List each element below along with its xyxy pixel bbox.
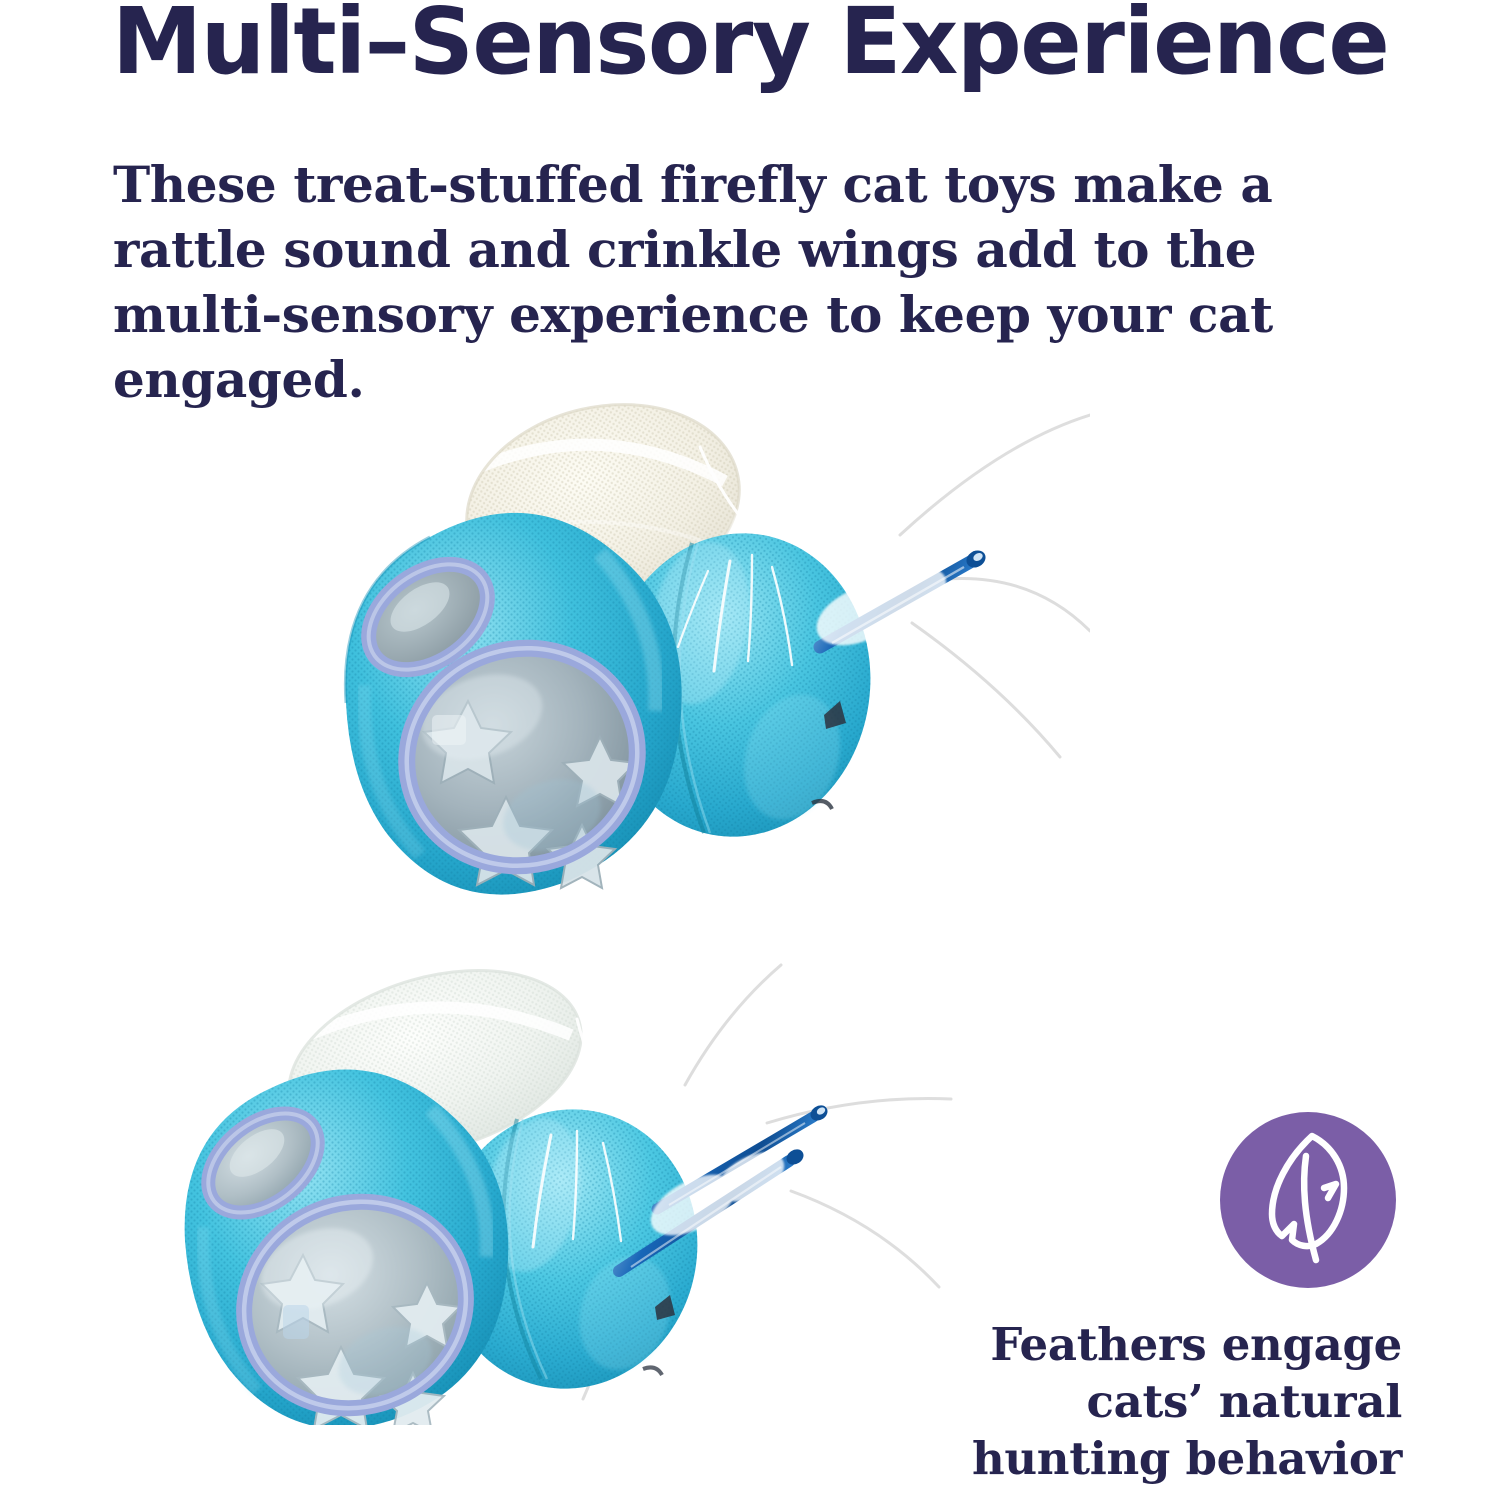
firefly-ball-window-bottom bbox=[185, 1069, 509, 1425]
firefly-ball-window-top bbox=[345, 513, 681, 896]
feather-badge-caption: Feathers engage cats’ natural hunting be… bbox=[880, 1316, 1402, 1487]
body-paragraph: These treat-stuffed firefly cat toys mak… bbox=[113, 152, 1403, 412]
firefly-ball-feathered-top bbox=[586, 415, 1090, 854]
feather-quills-bottom bbox=[619, 1102, 830, 1271]
feather-badge-circle bbox=[1220, 1112, 1396, 1288]
firefly-cat-toy-photo-bottom bbox=[145, 955, 975, 1425]
crinkle-wing-top bbox=[446, 385, 759, 632]
feather-icon bbox=[1220, 1112, 1396, 1288]
firefly-cat-toy-photo-top bbox=[300, 385, 1090, 925]
firefly-ball-feathered-bottom bbox=[419, 965, 951, 1409]
toy-window-small-bottom bbox=[190, 1093, 337, 1232]
toy-window-large-bottom bbox=[215, 1171, 495, 1425]
toy-window-small-top bbox=[349, 543, 508, 692]
infographic-page: Multi–Sensory Experience These treat-stu… bbox=[0, 0, 1500, 1500]
feather-quill-top bbox=[820, 547, 989, 647]
crinkle-wing-bottom bbox=[267, 955, 603, 1187]
page-title: Multi–Sensory Experience bbox=[112, 0, 1393, 91]
toy-window-large-top bbox=[378, 618, 665, 895]
